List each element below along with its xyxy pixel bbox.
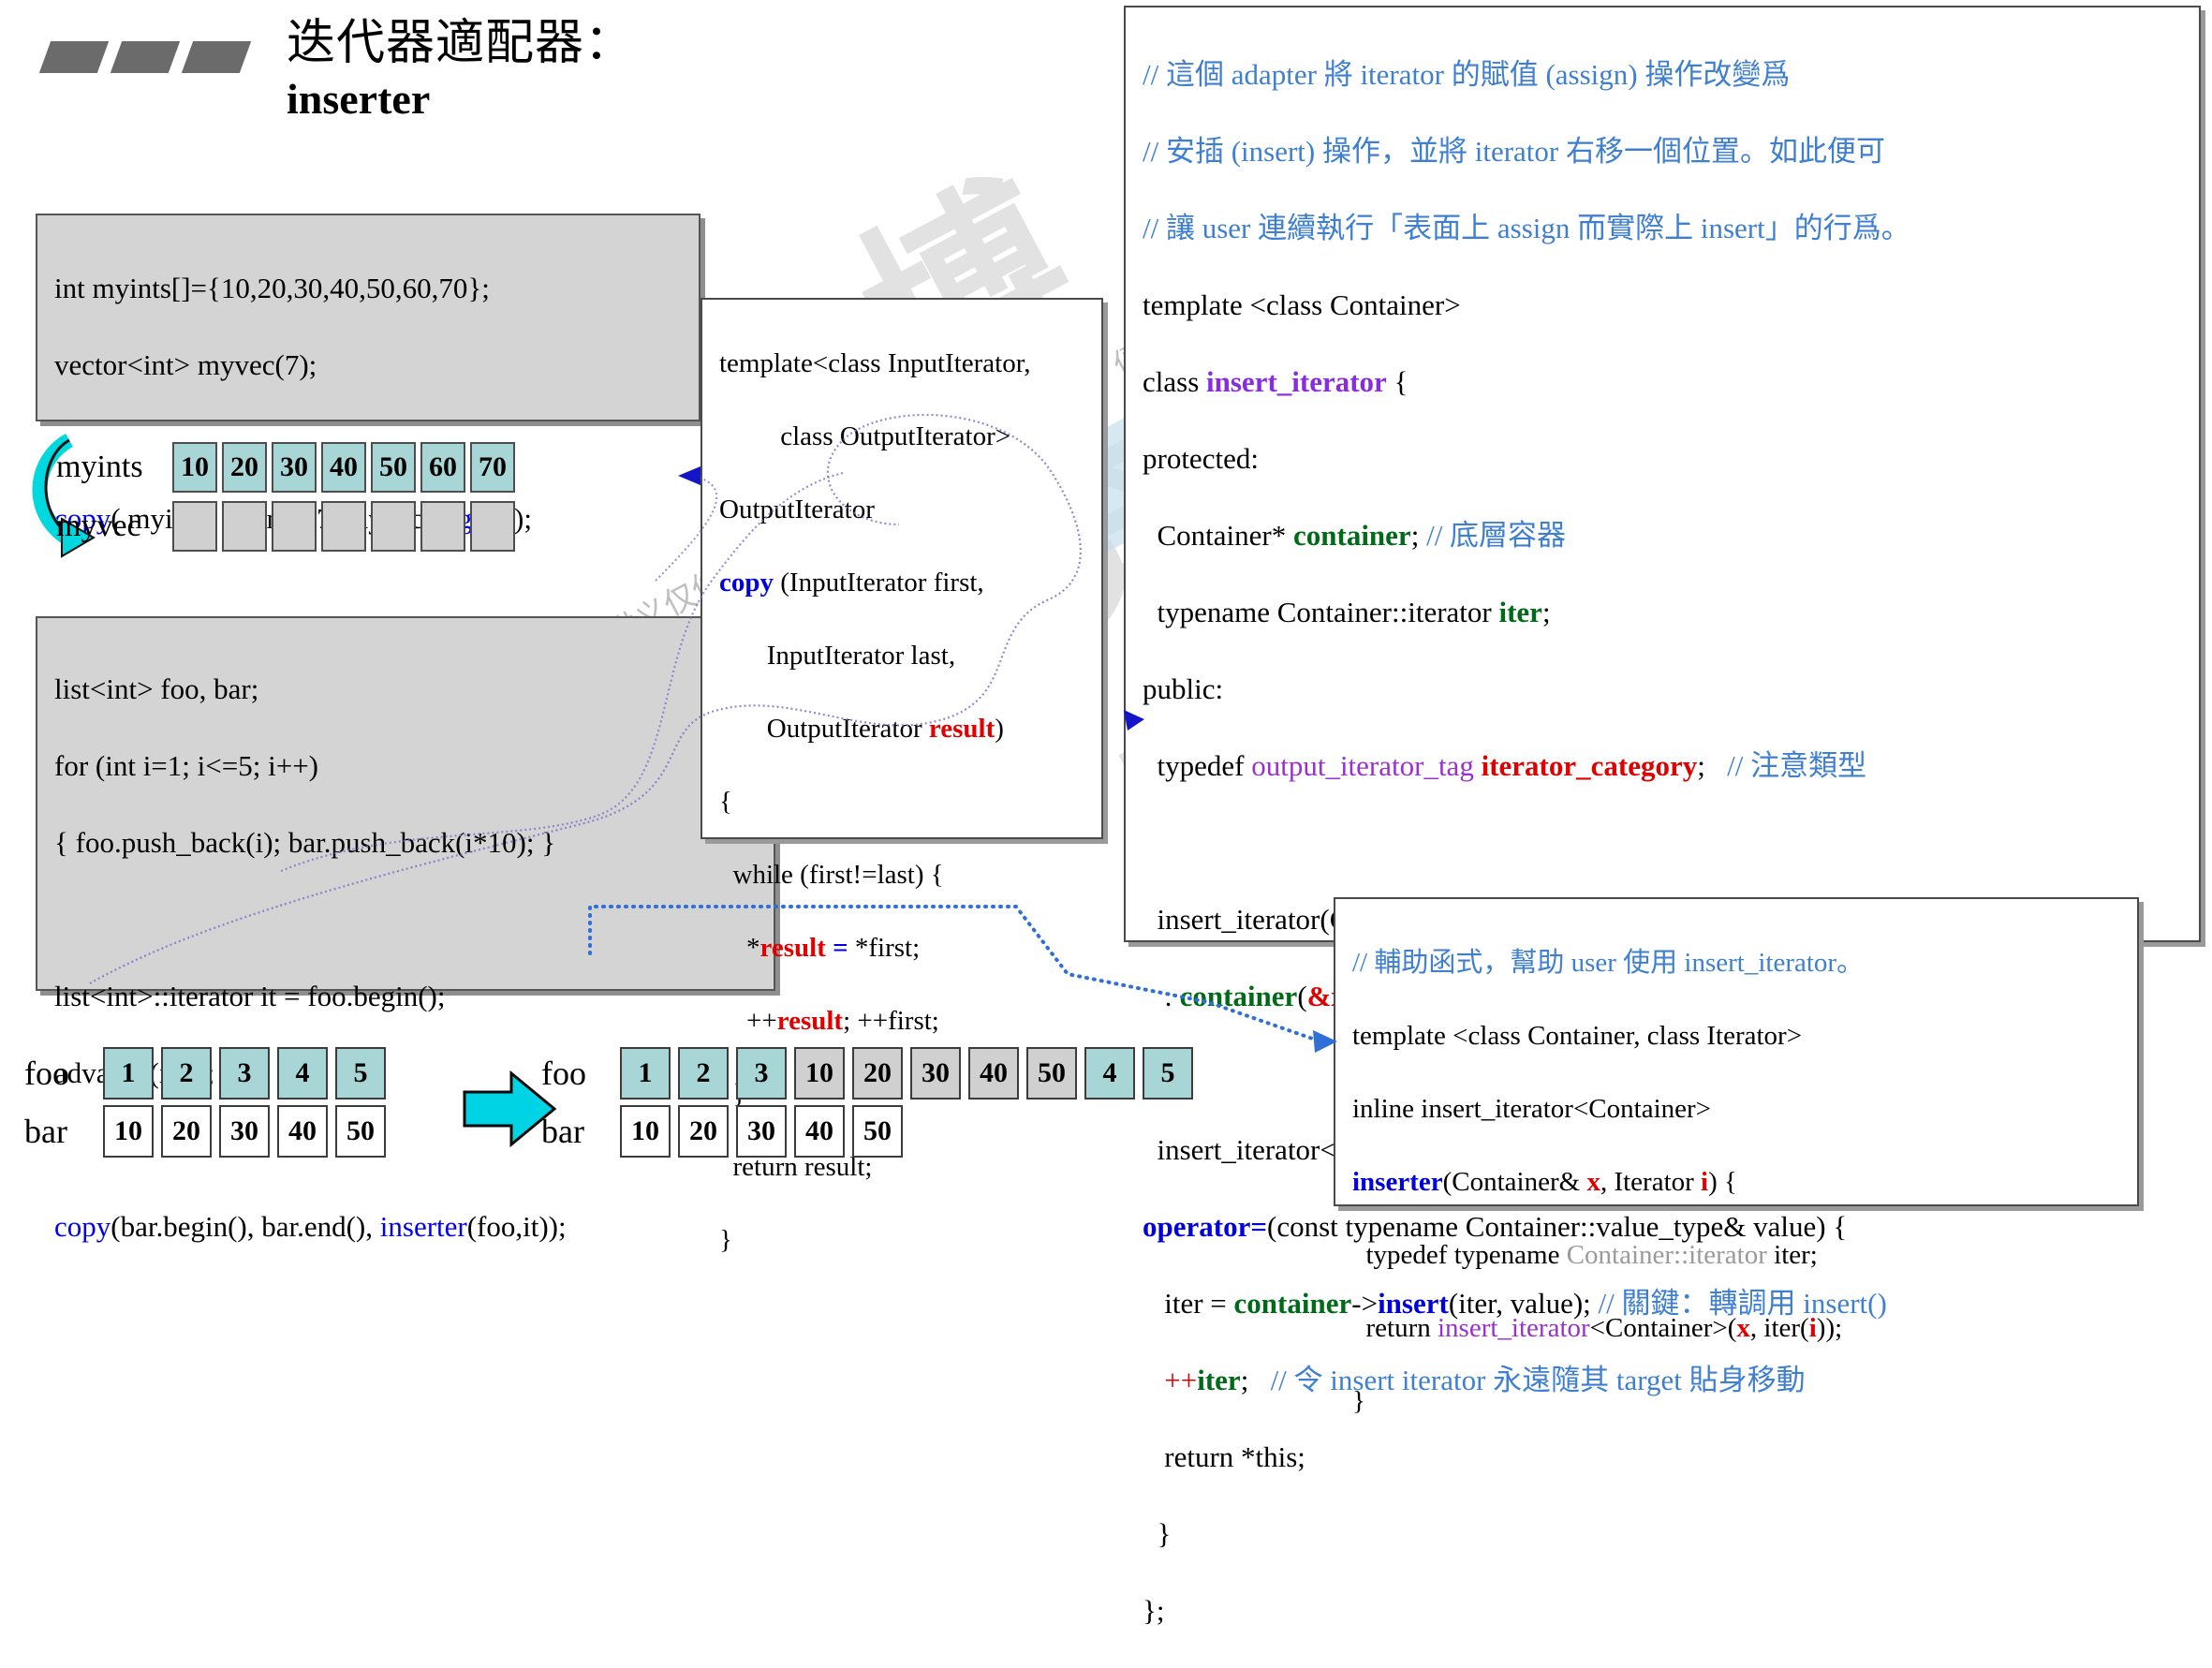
code-line: typedef output_iterator_tag iterator_cat… xyxy=(1143,746,2199,785)
code-line: vector<int> myvec(7); xyxy=(54,346,699,384)
cell: 5 xyxy=(335,1047,386,1100)
code-line: ++result; ++first; xyxy=(719,1003,1101,1040)
code-line: } xyxy=(719,1222,1101,1259)
code-line: }; xyxy=(1143,1591,2199,1630)
cell: 30 xyxy=(736,1105,787,1158)
cell: 20 xyxy=(222,442,267,493)
page-title: 迭代器適配器： inserter xyxy=(287,15,717,125)
code-line: public: xyxy=(1143,670,2199,708)
cell: 20 xyxy=(161,1105,212,1158)
code-line: for (int i=1; i<=5; i++) xyxy=(54,746,774,785)
myints-cells: 10 20 30 40 50 60 70 xyxy=(172,442,515,493)
cell xyxy=(420,501,465,552)
cell xyxy=(172,501,217,552)
code-panel-inserter-list-example: list<int> foo, bar; for (int i=1; i<=5; … xyxy=(36,616,775,991)
foo-bar-after: foo 1 2 3 10 20 30 40 50 4 5 bar 10 20 3… xyxy=(541,1047,1193,1158)
page-title-en: inserter xyxy=(287,73,717,125)
parallelogram-bullet-icon xyxy=(39,41,109,73)
cell: 10 xyxy=(103,1105,154,1158)
cell: 2 xyxy=(678,1047,729,1100)
code-line: { foo.push_back(i); bar.push_back(i*10);… xyxy=(54,823,774,862)
code-panel-copy-algorithm: template<class InputIterator, class Outp… xyxy=(700,298,1103,839)
code-line: InputIterator last, xyxy=(719,638,1101,674)
cell: 50 xyxy=(1026,1047,1077,1100)
bar-cells-after: 10 20 30 40 50 xyxy=(620,1105,903,1158)
code-panel-inserter-helper: // 輔助函式，幫助 user 使用 insert_iterator。 temp… xyxy=(1334,897,2139,1206)
code-comment: // 安插 (insert) 操作，並將 iterator 右移一個位置。如此便… xyxy=(1143,132,2199,170)
cell: 5 xyxy=(1143,1047,1193,1100)
code-line: class OutputIterator> xyxy=(719,419,1101,455)
code-line: int myints[]={10,20,30,40,50,60,70}; xyxy=(54,269,699,307)
row-label-bar: bar xyxy=(24,1112,97,1151)
cell: 40 xyxy=(277,1105,328,1158)
code-comment: // 這個 adapter 將 iterator 的賦值 (assign) 操作… xyxy=(1143,55,2199,94)
cell: 40 xyxy=(794,1105,845,1158)
code-panel-copy-vector-example: int myints[]={10,20,30,40,50,60,70}; vec… xyxy=(36,214,700,421)
foo-cells-after: 1 2 3 10 20 30 40 50 4 5 xyxy=(620,1047,1193,1100)
cell: 30 xyxy=(910,1047,961,1100)
cell: 1 xyxy=(103,1047,154,1100)
code-line: return *this; xyxy=(1143,1438,2199,1476)
cell xyxy=(272,501,317,552)
row-label-foo: foo xyxy=(24,1054,97,1093)
code-line: list<int> foo, bar; xyxy=(54,670,774,708)
code-line: typedef typename Container::iterator ite… xyxy=(1352,1237,2137,1274)
foo-bar-before: foo 1 2 3 4 5 bar 10 20 30 40 50 xyxy=(24,1047,386,1158)
myvec-cells xyxy=(172,501,515,552)
code-line xyxy=(54,900,774,938)
cell: 20 xyxy=(852,1047,903,1100)
code-line: Container* container; // 底層容器 xyxy=(1143,516,2199,554)
cell: 2 xyxy=(161,1047,212,1100)
cell: 70 xyxy=(470,442,515,493)
cell: 50 xyxy=(852,1105,903,1158)
cell: 20 xyxy=(678,1105,729,1158)
code-line: inline insert_iterator<Container> xyxy=(1352,1091,2137,1128)
code-line: } xyxy=(1352,1383,2137,1420)
parallelogram-bullet-icon xyxy=(111,41,180,73)
cell: 40 xyxy=(321,442,366,493)
cell: 3 xyxy=(736,1047,787,1100)
row-label-bar: bar xyxy=(541,1112,614,1151)
cell: 50 xyxy=(335,1105,386,1158)
code-line: template <class Container> xyxy=(1143,286,2199,324)
code-line: OutputIterator result) xyxy=(719,711,1101,747)
cell: 40 xyxy=(968,1047,1019,1100)
row-label-myints: myints xyxy=(56,451,167,483)
cell: 50 xyxy=(371,442,416,493)
code-line: template<class InputIterator, xyxy=(719,346,1101,382)
code-line: while (first!=last) { xyxy=(719,857,1101,893)
cell xyxy=(470,501,515,552)
cell xyxy=(371,501,416,552)
cell: 4 xyxy=(277,1047,328,1100)
row-label-myvec: myvec xyxy=(56,510,167,542)
cell: 1 xyxy=(620,1047,671,1100)
code-line: inserter(Container& x, Iterator i) { xyxy=(1352,1164,2137,1201)
cell: 10 xyxy=(794,1047,845,1100)
code-comment: // 讓 user 連續執行「表面上 assign 而實際上 insert」的行… xyxy=(1143,209,2199,247)
cell: 3 xyxy=(219,1047,270,1100)
code-line: copy (InputIterator first, xyxy=(719,565,1101,601)
code-line: protected: xyxy=(1143,439,2199,478)
code-panel-insert-iterator: // 這個 adapter 將 iterator 的賦值 (assign) 操作… xyxy=(1124,6,2201,942)
page-title-cn: 迭代器適配器： xyxy=(287,15,717,73)
code-line xyxy=(1143,823,2199,862)
bar-cells-before: 10 20 30 40 50 xyxy=(103,1105,386,1158)
cell: 30 xyxy=(219,1105,270,1158)
cell xyxy=(321,501,366,552)
bullet-group xyxy=(45,41,245,73)
cell: 10 xyxy=(620,1105,671,1158)
code-line: return insert_iterator<Container>(x, ite… xyxy=(1352,1310,2137,1347)
code-line: class insert_iterator { xyxy=(1143,362,2199,401)
code-comment: // 輔助函式，幫助 user 使用 insert_iterator。 xyxy=(1352,945,2137,982)
code-line: list<int>::iterator it = foo.begin(); xyxy=(54,977,774,1015)
code-line: typename Container::iterator iter; xyxy=(1143,593,2199,631)
cell xyxy=(222,501,267,552)
cell: 4 xyxy=(1084,1047,1135,1100)
foo-bar-diagram: foo 1 2 3 4 5 bar 10 20 30 40 50 fo xyxy=(24,1047,1279,1225)
cell: 30 xyxy=(272,442,317,493)
code-line: } xyxy=(1143,1514,2199,1553)
code-line: OutputIterator xyxy=(719,492,1101,528)
foo-cells-before: 1 2 3 4 5 xyxy=(103,1047,386,1100)
code-line: template <class Container, class Iterato… xyxy=(1352,1018,2137,1055)
code-line: { xyxy=(719,784,1101,820)
cell: 60 xyxy=(420,442,465,493)
row-label-foo: foo xyxy=(541,1054,614,1093)
code-line: *result = *first; xyxy=(719,930,1101,967)
myints-myvec-diagram: myints 10 20 30 40 50 60 70 myvec xyxy=(28,433,702,583)
cell: 10 xyxy=(172,442,217,493)
parallelogram-bullet-icon xyxy=(182,41,251,73)
